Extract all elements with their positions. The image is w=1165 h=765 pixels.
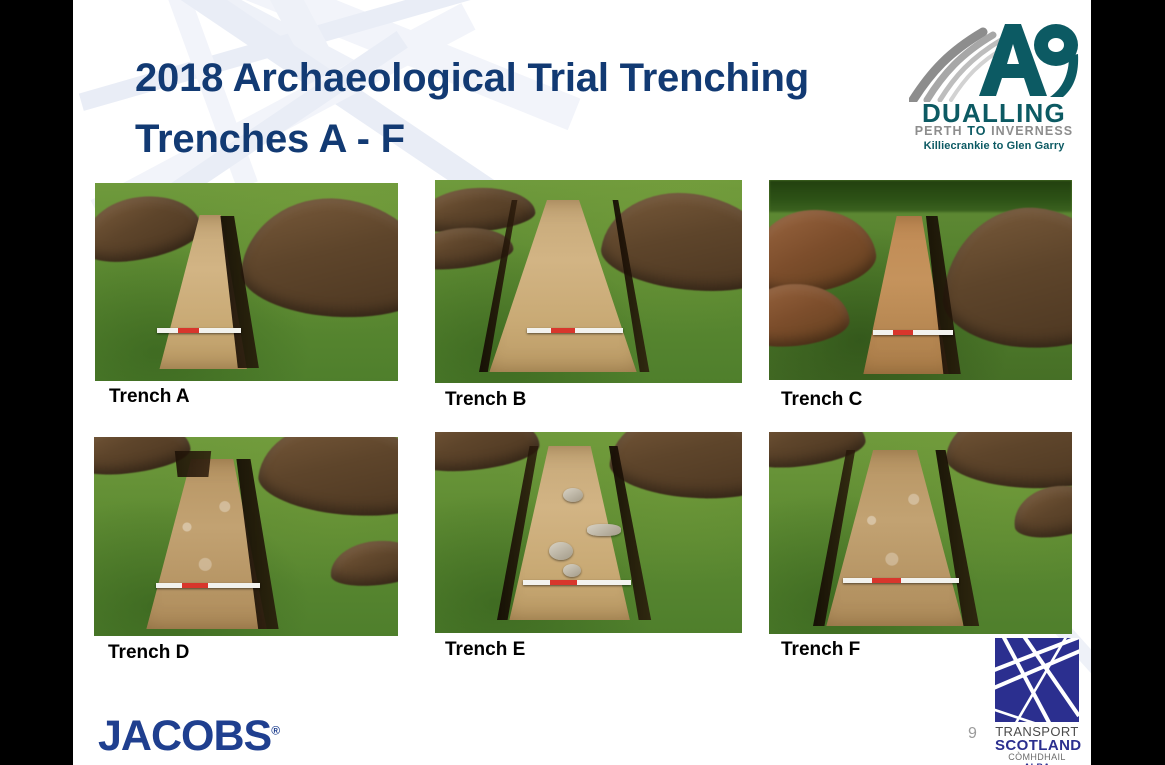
a9-route-inverness: INVERNESS	[987, 124, 1074, 138]
a9-logo-section-text: Killiecrankie to Glen Garry	[909, 140, 1079, 152]
photo-trench-c: Trench C	[769, 180, 1072, 380]
title-line-2: Trenches A - F	[135, 109, 925, 170]
a9-route-perth: PERTH	[915, 124, 967, 138]
trench-b-caption: Trench B	[445, 389, 526, 411]
trench-a-caption: Trench A	[109, 386, 190, 408]
transport-scotland-logo: TRANSPORT SCOTLAND CÒMHDHAIL ALBA	[995, 638, 1079, 756]
jacobs-logo: JACOBS®	[98, 712, 280, 761]
letterbox-bar-left	[0, 0, 73, 765]
letterbox-bar-right	[1091, 0, 1165, 765]
a9-route-to: TO	[967, 124, 986, 138]
slide-viewport: 2018 Archaeological Trial Trenching Tren…	[0, 0, 1165, 765]
title-line-1: 2018 Archaeological Trial Trenching	[135, 56, 809, 100]
exposed-stone	[563, 488, 583, 502]
trench-d-image	[94, 437, 398, 636]
trench-e-caption: Trench E	[445, 639, 525, 661]
exposed-stone	[563, 564, 581, 577]
exposed-stone	[587, 524, 621, 536]
photo-scale-bar	[523, 580, 631, 585]
trench-d-caption: Trench D	[108, 642, 189, 664]
page-number: 9	[968, 725, 977, 743]
photo-scale-bar	[157, 328, 241, 333]
trench-a-image	[95, 183, 398, 381]
photo-trench-a: Trench A	[95, 183, 398, 381]
photo-trench-e: Trench E	[435, 432, 742, 633]
page-title: 2018 Archaeological Trial Trenching Tren…	[135, 48, 925, 170]
a9-road-mark-icon	[909, 16, 1079, 102]
jacobs-wordmark: JACOBS	[98, 712, 271, 760]
photo-scale-bar	[156, 583, 260, 588]
trench-e-image	[435, 432, 742, 633]
a9-dualling-logo: DUALLING PERTH TO INVERNESS Killiecranki…	[909, 16, 1079, 146]
trench-b-image	[435, 180, 742, 383]
photo-scale-bar	[843, 578, 959, 583]
trench-c-caption: Trench C	[781, 389, 862, 411]
trench-c-image	[769, 180, 1072, 380]
photo-trench-f: Trench F	[769, 432, 1072, 634]
photo-scale-bar	[873, 330, 953, 335]
jacobs-registered-mark: ®	[271, 724, 280, 738]
presentation-slide: 2018 Archaeological Trial Trenching Tren…	[73, 0, 1091, 765]
transport-scotland-line-3: CÒMHDHAIL ALBA	[995, 752, 1079, 765]
photo-trench-b: Trench B	[435, 180, 742, 383]
a9-logo-route-text: PERTH TO INVERNESS	[909, 124, 1079, 138]
photo-trench-d: Trench D	[94, 437, 398, 636]
trench-f-caption: Trench F	[781, 639, 860, 661]
exposed-stone	[549, 542, 573, 560]
ts-gaelic-comhdhail: CÒMHDHAIL	[1008, 752, 1066, 762]
transport-scotland-mark-icon	[995, 638, 1079, 722]
photo-scale-bar	[527, 328, 623, 333]
trench-f-image	[769, 432, 1072, 634]
